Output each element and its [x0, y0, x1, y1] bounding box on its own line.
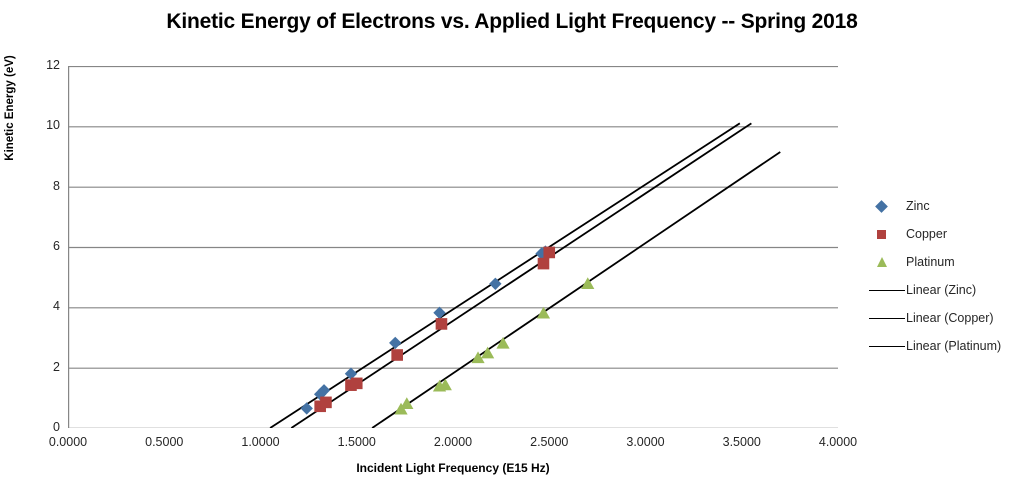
legend-item[interactable]: Linear (Zinc) — [866, 276, 1024, 304]
x-axis-tick-label: 4.0000 — [793, 436, 883, 449]
legend-item[interactable]: Platinum — [866, 248, 1024, 276]
plot-area — [68, 66, 838, 428]
y-axis-tick-labels: 024681012 — [0, 0, 60, 499]
legend-key-line — [866, 332, 906, 360]
legend-item-label: Platinum — [906, 256, 955, 269]
x-axis-tick-label: 3.5000 — [697, 436, 787, 449]
data-point-triangle[interactable] — [400, 397, 413, 409]
legend-item-label: Zinc — [906, 200, 930, 213]
plot-svg — [68, 66, 838, 428]
x-axis-tick-label: 2.0000 — [408, 436, 498, 449]
trendline — [372, 152, 780, 428]
line-marker-icon — [869, 346, 905, 347]
data-point-square[interactable] — [543, 247, 555, 259]
trendline — [270, 123, 740, 428]
line-marker-icon — [869, 318, 905, 319]
y-axis-tick-label: 0 — [16, 421, 60, 434]
legend-item-label: Copper — [906, 228, 947, 241]
y-axis-tick-label: 4 — [16, 300, 60, 313]
diamond-marker-icon — [875, 200, 888, 213]
x-axis-title: Incident Light Frequency (E15 Hz) — [68, 461, 838, 475]
x-axis-tick-label: 3.0000 — [601, 436, 691, 449]
data-point-square[interactable] — [320, 397, 332, 409]
data-point-square[interactable] — [436, 318, 448, 330]
chart-container: Kinetic Energy of Electrons vs. Applied … — [0, 0, 1024, 499]
y-axis-tick-label: 10 — [16, 119, 60, 132]
legend-item[interactable]: Linear (Copper) — [866, 304, 1024, 332]
x-axis-tick-label: 0.0000 — [23, 436, 113, 449]
y-axis-tick-label: 6 — [16, 240, 60, 253]
y-axis-tick-label: 8 — [16, 180, 60, 193]
legend-key-line — [866, 276, 906, 304]
x-axis-tick-labels: 0.00000.50001.00001.50002.00002.50003.00… — [0, 436, 1024, 456]
chart-title: Kinetic Energy of Electrons vs. Applied … — [0, 10, 1024, 34]
data-point-square[interactable] — [351, 378, 363, 390]
chart-legend: ZincCopperPlatinumLinear (Zinc)Linear (C… — [866, 192, 1024, 360]
legend-key-line — [866, 304, 906, 332]
data-point-diamond[interactable] — [301, 402, 313, 414]
legend-item[interactable]: Zinc — [866, 192, 1024, 220]
x-axis-tick-label: 1.0000 — [216, 436, 306, 449]
legend-item-label: Linear (Copper) — [906, 312, 994, 325]
y-axis-tick-label: 12 — [16, 59, 60, 72]
legend-key-triangle — [866, 248, 906, 276]
legend-key-diamond — [866, 192, 906, 220]
line-marker-icon — [869, 290, 905, 291]
legend-item[interactable]: Linear (Platinum) — [866, 332, 1024, 360]
x-axis-tick-label: 2.5000 — [504, 436, 594, 449]
legend-item-label: Linear (Platinum) — [906, 340, 1001, 353]
legend-key-square — [866, 220, 906, 248]
triangle-marker-icon — [877, 257, 887, 267]
x-axis-tick-label: 1.5000 — [312, 436, 402, 449]
y-axis-tick-label: 2 — [16, 361, 60, 374]
data-point-square[interactable] — [391, 349, 403, 361]
data-point-diamond[interactable] — [389, 337, 401, 349]
data-point-square[interactable] — [538, 258, 550, 270]
legend-item[interactable]: Copper — [866, 220, 1024, 248]
square-marker-icon — [877, 230, 886, 239]
x-axis-tick-label: 0.5000 — [119, 436, 209, 449]
legend-item-label: Linear (Zinc) — [906, 284, 976, 297]
